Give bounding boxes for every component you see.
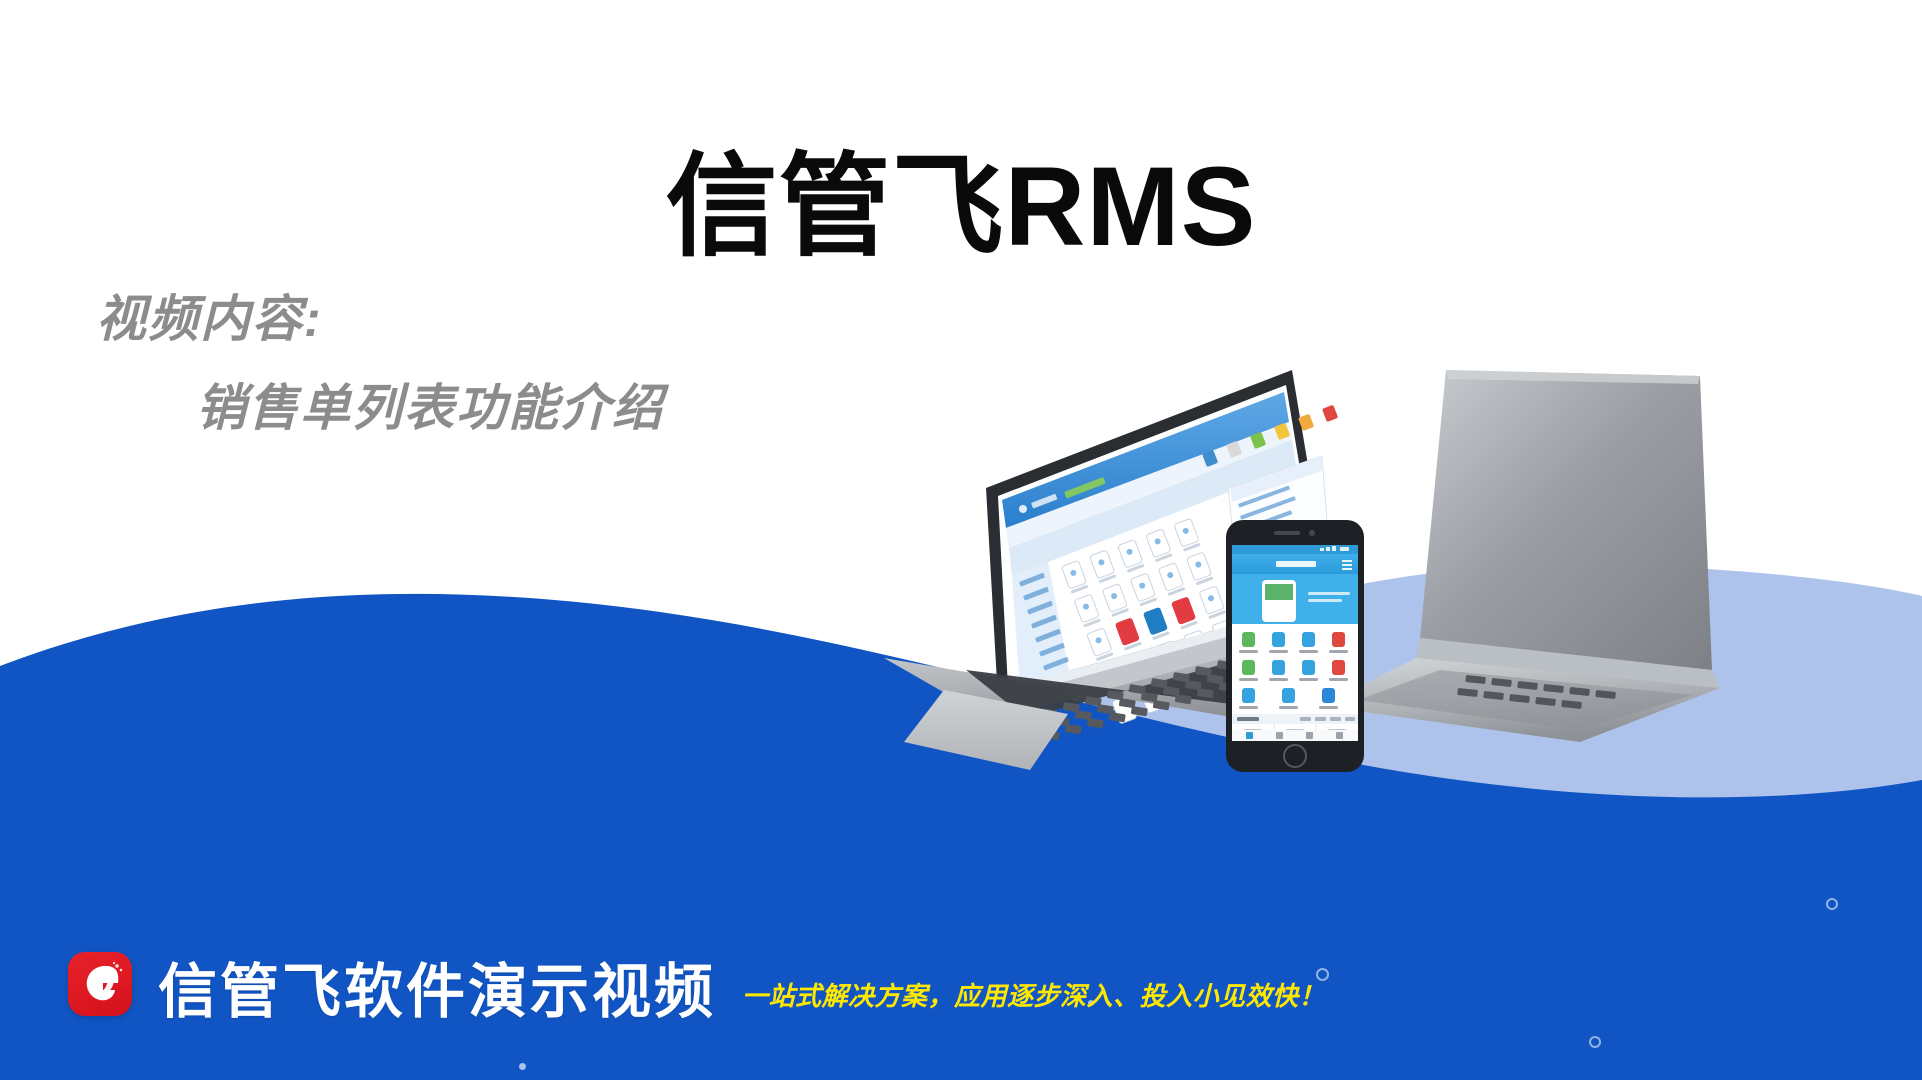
phone-device [1226,520,1364,772]
phone-app-title [1276,561,1316,567]
video-content-topic: 销售单列表功能介绍 [196,371,664,446]
video-content-block: 视频内容: 销售单列表功能介绍 [96,282,664,446]
phone-statusbar [1232,545,1358,554]
presentation-slide: 信管飞RMS 视频内容: 销售单列表功能介绍 [0,0,1922,1080]
decor-dot-ring [1589,1036,1601,1048]
page-title: 信管飞RMS [0,147,1922,268]
phone-menu-icon [1342,560,1352,570]
brand-tagline: 一站式解决方案，应用逐步深入、投入小见效快！ [742,976,1325,1013]
decor-dot-solid [519,1063,526,1070]
brand-title: 信管飞软件演示视频 [158,963,716,1022]
video-content-label: 视频内容: [96,291,323,347]
phone-bottom-nav [1232,730,1358,741]
laptop-back-device [1320,370,1720,742]
phone-speaker [1274,531,1300,535]
brand-logo-icon [68,952,132,1016]
bottom-banner: 信管飞软件演示视频 一站式解决方案，应用逐步深入、投入小见效快！ [68,952,1325,1022]
phone-camera [1309,530,1315,536]
phone-stats-title [1237,717,1259,721]
phone-hero-thumb [1265,584,1293,600]
device-mockup-group [880,370,1922,930]
laptop-back-lid [1420,370,1712,670]
